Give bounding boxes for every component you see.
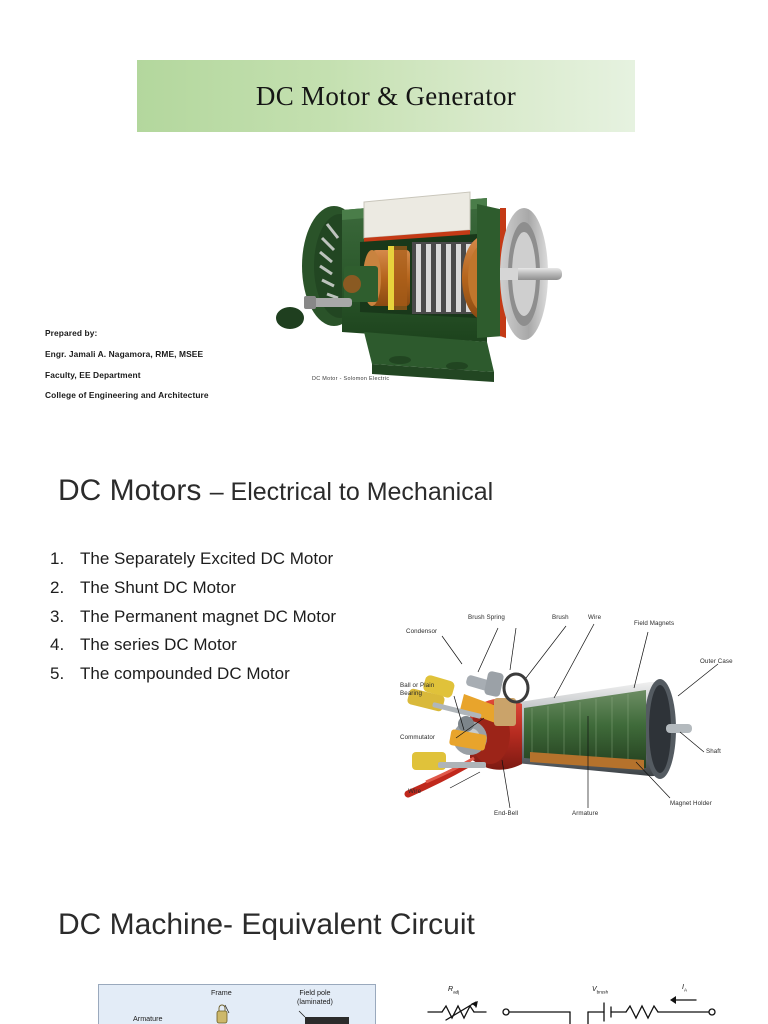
list-item-label: The Shunt DC Motor xyxy=(80,577,400,599)
label-current-ia: IA xyxy=(682,984,687,992)
label-shaft: Shaft xyxy=(706,748,721,756)
list-item-number: 4. xyxy=(50,634,80,656)
dc-motor-cutaway-diagram: Condensor Brush Spring Brush Wire Field … xyxy=(398,612,750,834)
list-item: 2. The Shunt DC Motor xyxy=(50,577,400,599)
list-item-number: 2. xyxy=(50,577,80,599)
list-item: 1. The Separately Excited DC Motor xyxy=(50,548,400,570)
dc-motor-types-list: 1. The Separately Excited DC Motor 2. Th… xyxy=(50,548,400,692)
list-item-label: The compounded DC Motor xyxy=(80,663,400,685)
page-title: DC Motor & Generator xyxy=(256,81,516,112)
title-banner: DC Motor & Generator xyxy=(137,60,635,132)
heading-dc-machine-equivalent-circuit: DC Machine- Equivalent Circuit xyxy=(58,908,475,942)
list-item-label: The Separately Excited DC Motor xyxy=(80,548,400,570)
label-field-pole: Field pole (laminated) xyxy=(297,989,333,1006)
heading-dc-motors: DC Motors – Electrical to Mechanical xyxy=(58,474,493,508)
label-brush: Brush xyxy=(552,614,569,622)
label-wire-top: Wire xyxy=(588,614,601,622)
list-item: 4. The series DC Motor xyxy=(50,634,400,656)
label-condensor: Condensor xyxy=(406,628,437,636)
dc-motor-photo xyxy=(272,146,562,394)
label-end-bell: End-Bell xyxy=(494,810,518,818)
heading-rest: – Electrical to Mechanical xyxy=(210,478,493,506)
label-armature: Armature xyxy=(133,1015,163,1024)
photo-caption: DC Motor - Solomon Electric xyxy=(312,375,389,381)
label-wire-bottom: Wire xyxy=(408,788,421,796)
list-item-label: The series DC Motor xyxy=(80,634,400,656)
author-college: College of Engineering and Architecture xyxy=(45,391,295,400)
author-faculty: Faculty, EE Department xyxy=(45,371,295,380)
label-outer-case: Outer Case xyxy=(700,658,733,666)
label-r-adj-subscript: adj xyxy=(453,989,459,994)
label-magnet-holder: Magnet Holder xyxy=(670,800,712,808)
label-r-adj: Radj xyxy=(448,986,459,994)
list-item: 5. The compounded DC Motor xyxy=(50,663,400,685)
prepared-by-block: Prepared by: Engr. Jamali A. Nagamora, R… xyxy=(45,329,295,412)
list-item-label: The Permanent magnet DC Motor xyxy=(80,606,400,628)
label-frame: Frame xyxy=(211,989,232,998)
label-commutator: Commutator xyxy=(400,734,435,742)
label-armature: Armature xyxy=(572,810,598,818)
label-brush-spring: Brush Spring xyxy=(468,614,505,622)
list-item-number: 5. xyxy=(50,663,80,685)
slide-document-page: DC Motor & Generator xyxy=(0,0,768,1024)
list-item-number: 3. xyxy=(50,606,80,628)
list-item: 3. The Permanent magnet DC Motor xyxy=(50,606,400,628)
equivalent-circuit-figure: Radj Vbrush IA xyxy=(420,984,720,1024)
heading-lead: DC Motors xyxy=(58,474,210,507)
label-field-magnets: Field Magnets xyxy=(634,620,674,628)
label-current-subscript: A xyxy=(684,987,687,992)
prepared-by-line: Prepared by: xyxy=(45,329,295,338)
label-v-brush: Vbrush xyxy=(592,986,608,994)
label-bearing: Ball or Plain Bearing xyxy=(400,682,434,698)
list-item-number: 1. xyxy=(50,548,80,570)
label-v-brush-subscript: brush xyxy=(597,989,609,994)
dc-machine-construction-figure: Frame Field pole (laminated) Armature xyxy=(98,984,376,1024)
author-name: Engr. Jamali A. Nagamora, RME, MSEE xyxy=(45,350,295,359)
